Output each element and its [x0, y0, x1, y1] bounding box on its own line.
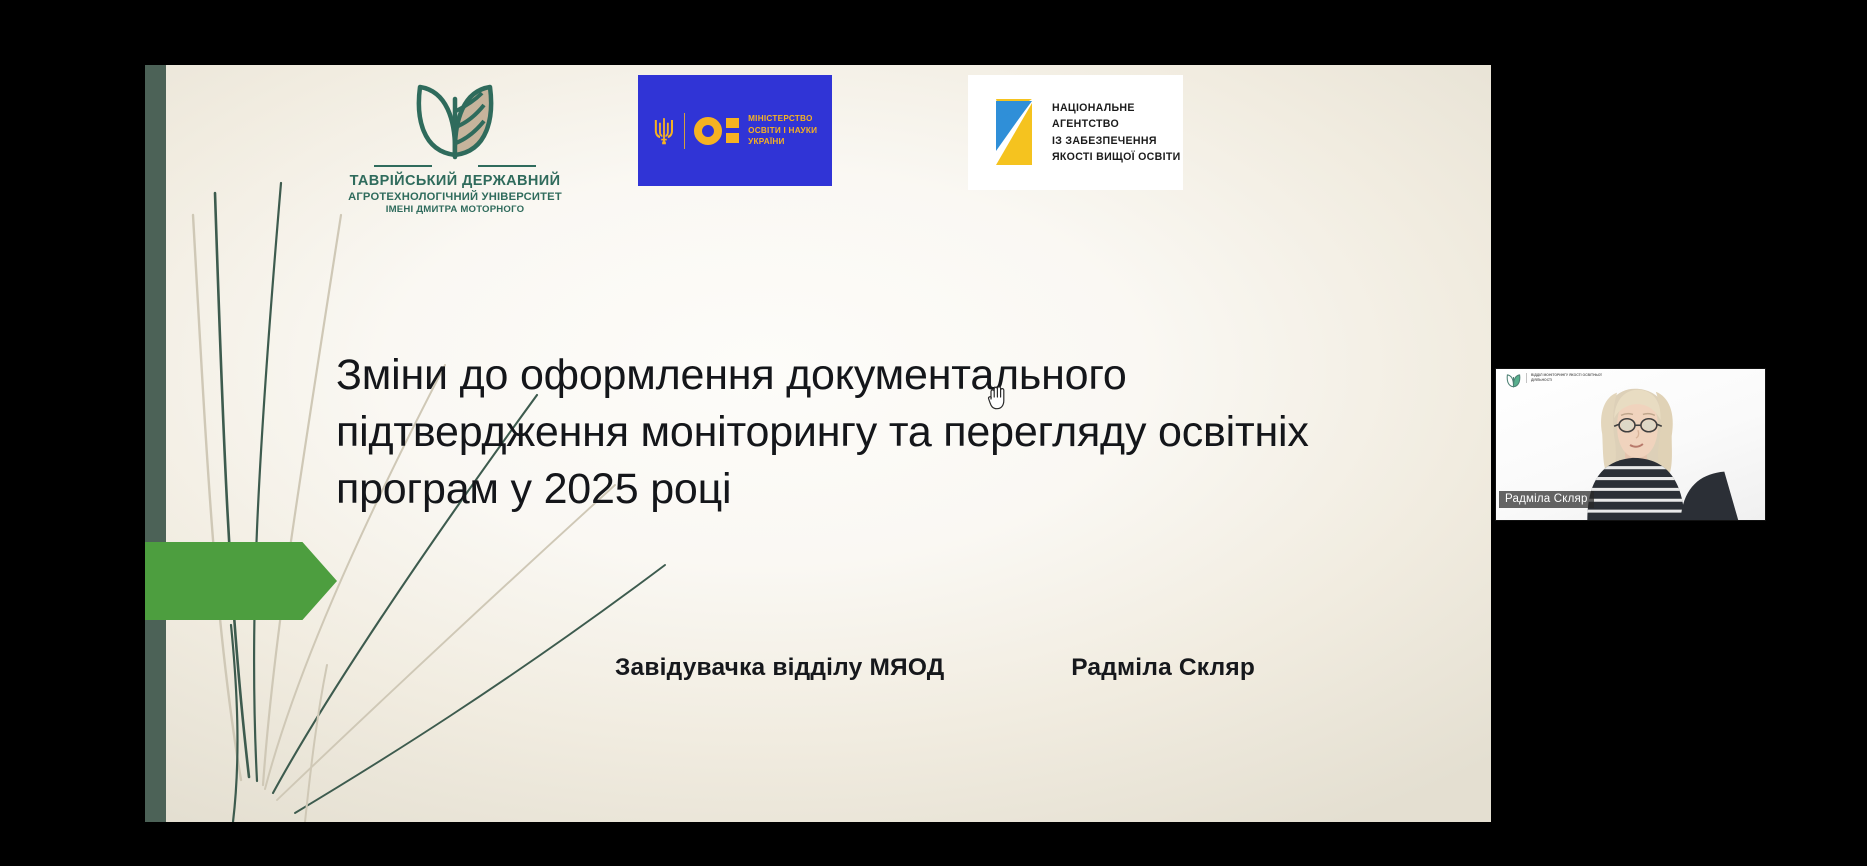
participant-video-tile[interactable]: ВІДДІЛ МОНІТОРИНГУ ЯКОСТІ ОСВІТНЬОЇ ДІЯЛ… [1495, 368, 1766, 521]
participant-name-label: Радміла Скляр [1499, 491, 1594, 508]
screen-root: ТАВРІЙСЬКИЙ ДЕРЖАВНИЙ АГРОТЕХНОЛОГІЧНИЙ … [0, 0, 1867, 866]
university-name-line-2: АГРОТЕХНОЛОГІЧНИЙ УНІВЕРСИТЕТ [340, 190, 570, 204]
ukraine-trident-icon [653, 116, 675, 146]
mon-logomark-icon [694, 117, 739, 145]
slide-footer: Завідувачка відділу МЯОД Радміла Скляр [615, 654, 1255, 682]
logo-separator [684, 113, 685, 149]
leaf-sprout-icon [340, 73, 570, 161]
university-name-line-1: ТАВРІЙСЬКИЙ ДЕРЖАВНИЙ [340, 173, 570, 190]
naqa-name-text: НАЦІОНАЛЬНЕ АГЕНТСТВО ІЗ ЗАБЕЗПЕЧЕННЯ ЯК… [1052, 100, 1181, 166]
naqa-flag-mark-icon [988, 95, 1040, 171]
logo-row: ТАВРІЙСЬКИЙ ДЕРЖАВНИЙ АГРОТЕХНОЛОГІЧНИЙ … [145, 65, 1491, 255]
green-arrow-shape [145, 542, 337, 620]
logo-university: ТАВРІЙСЬКИЙ ДЕРЖАВНИЙ АГРОТЕХНОЛОГІЧНИЙ … [340, 73, 570, 216]
presenter-role: Завідувачка відділу МЯОД [615, 654, 944, 682]
presentation-slide[interactable]: ТАВРІЙСЬКИЙ ДЕРЖАВНИЙ АГРОТЕХНОЛОГІЧНИЙ … [145, 65, 1491, 822]
university-name-line-3: ІМЕНІ ДМИТРА МОТОРНОГО [340, 204, 570, 216]
logo-naqa: НАЦІОНАЛЬНЕ АГЕНТСТВО ІЗ ЗАБЕЗПЕЧЕННЯ ЯК… [968, 75, 1183, 190]
slide-title: Зміни до оформлення документального підт… [336, 347, 1346, 519]
ministry-name-text: МІНІСТЕРСТВО ОСВІТИ І НАУКИ УКРАЇНИ [748, 113, 817, 149]
logo-ministry-of-education: МІНІСТЕРСТВО ОСВІТИ І НАУКИ УКРАЇНИ [638, 75, 832, 186]
presenter-name: Радміла Скляр [1071, 654, 1255, 682]
logo-divider [340, 165, 570, 167]
